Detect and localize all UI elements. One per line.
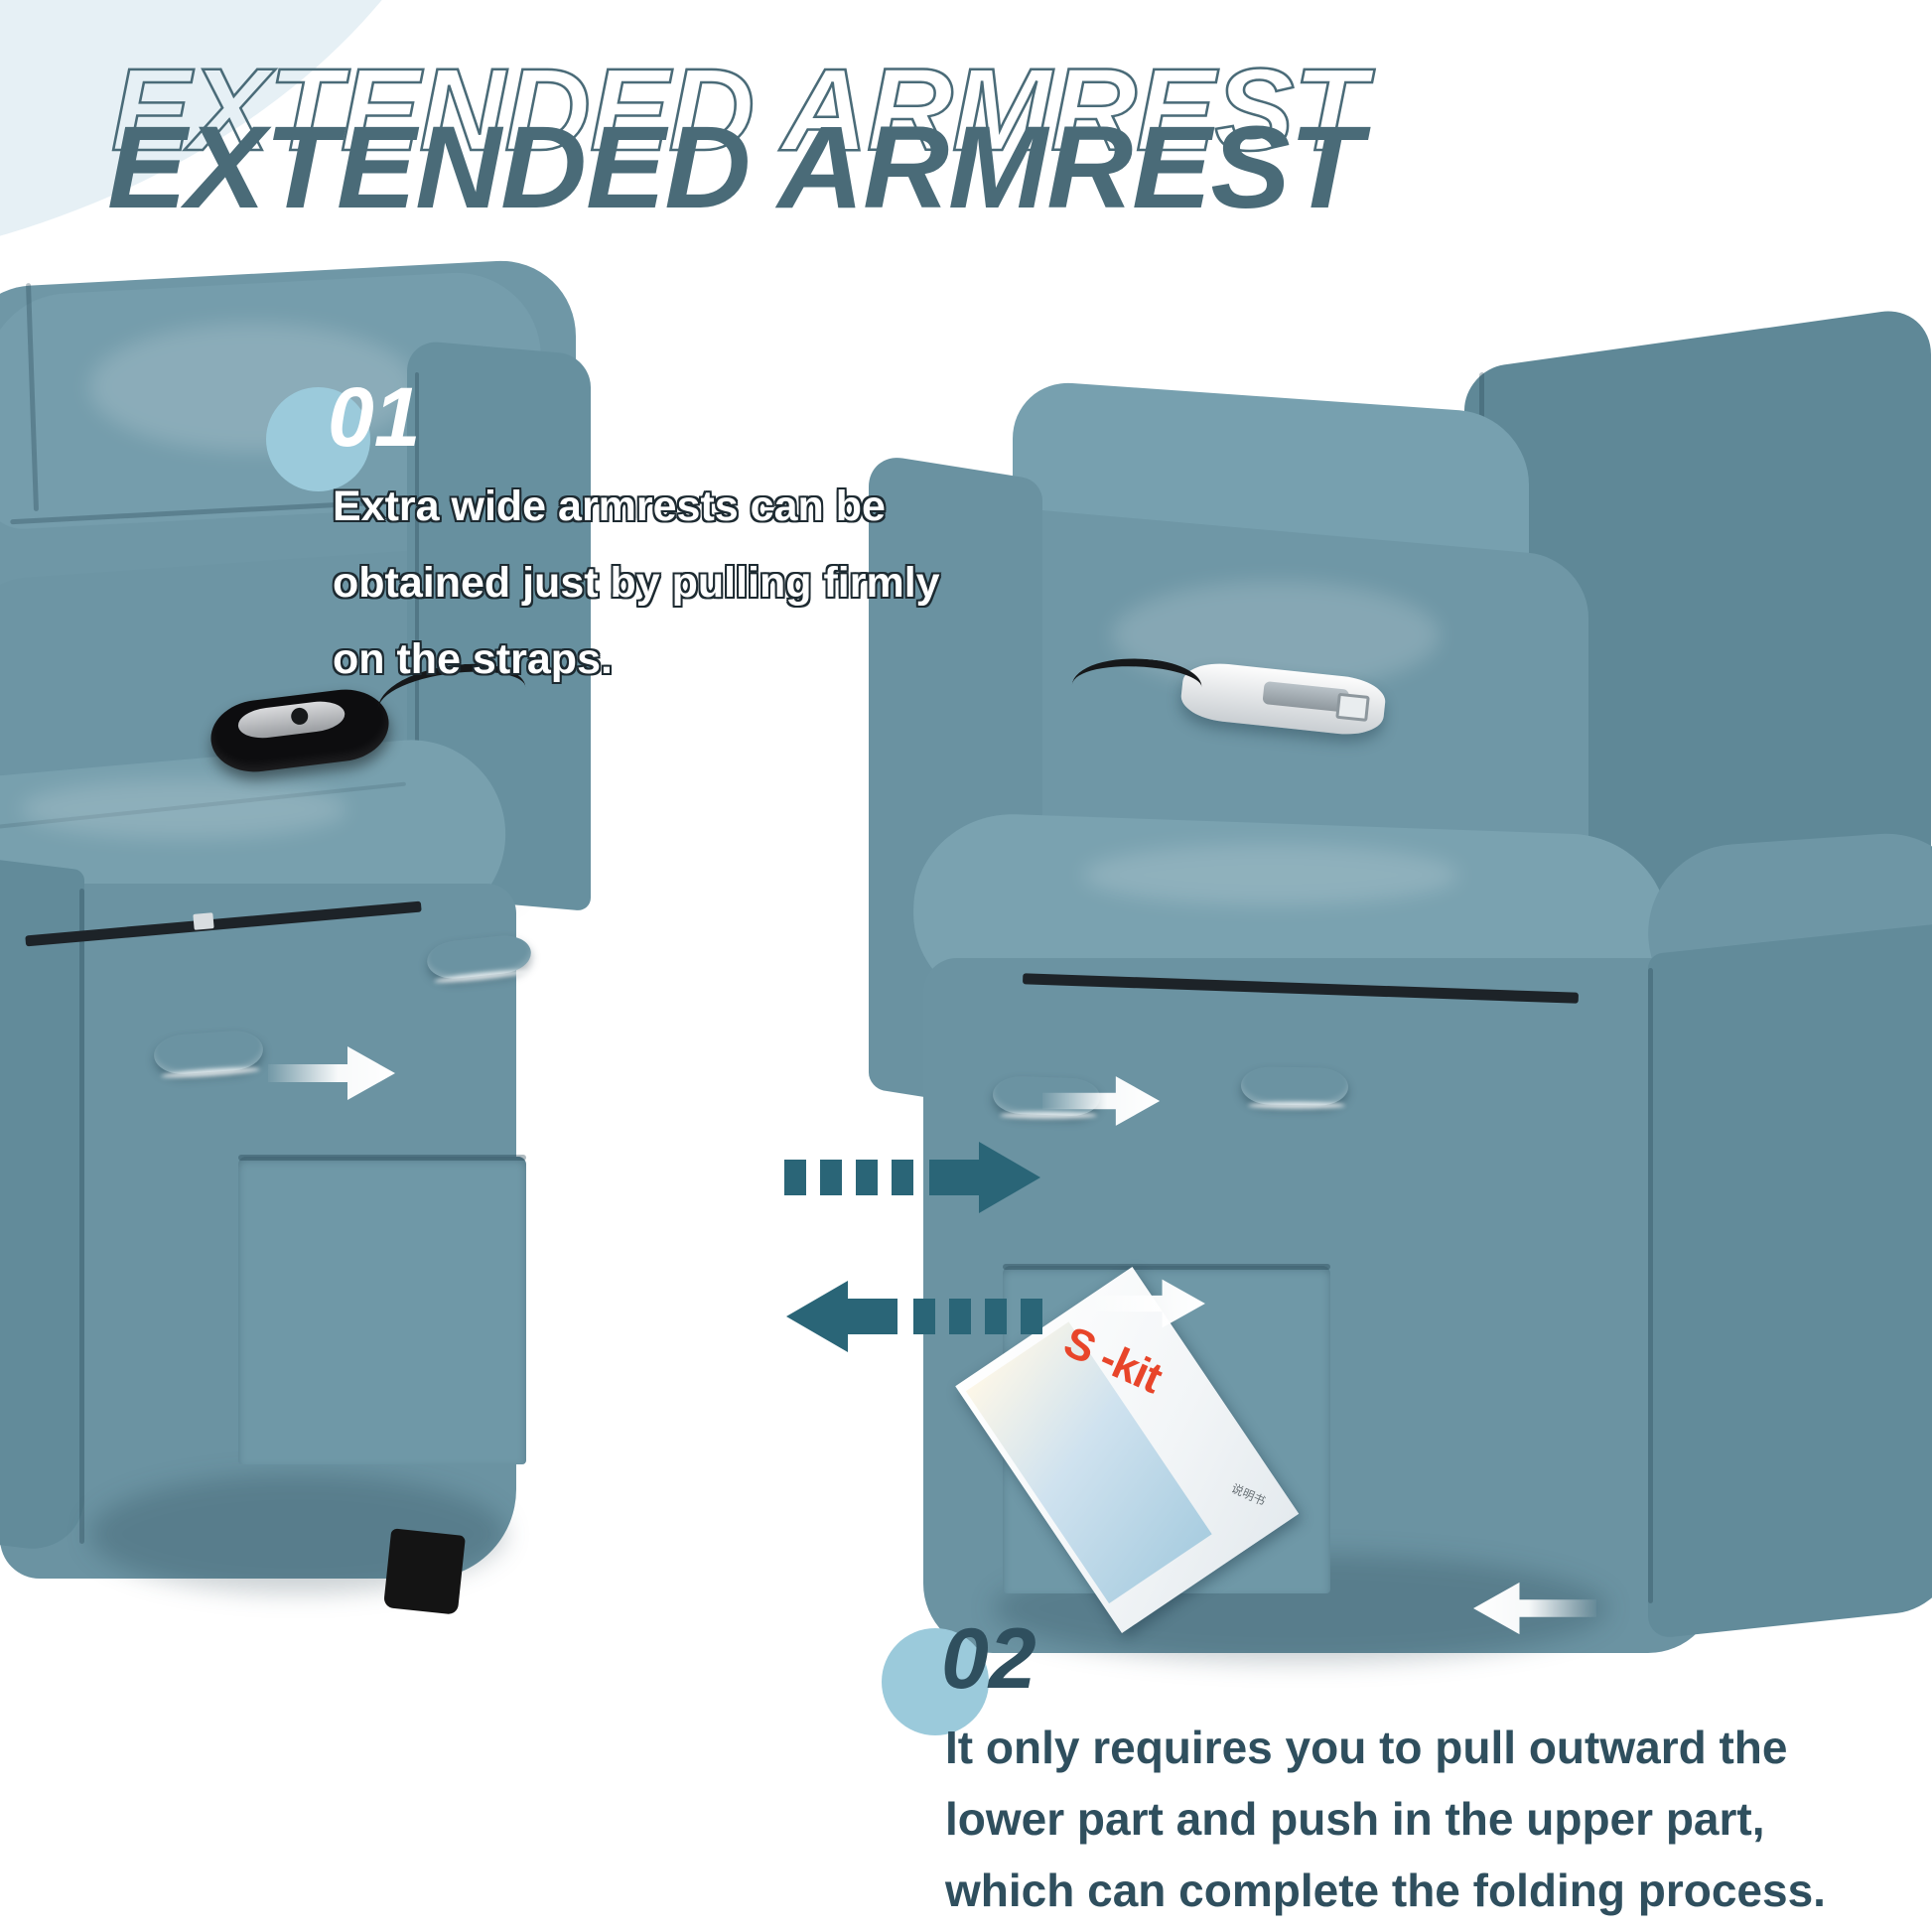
- left-chair-arrow-upper-right: [533, 938, 652, 996]
- callout-02-number: 02: [941, 1616, 1036, 1702]
- callout-02-line-3: which can complete the folding process.: [945, 1856, 1826, 1926]
- callout-02-line-1: It only requires you to pull outward the: [945, 1713, 1787, 1783]
- direction-arrow-left: [784, 1281, 1042, 1352]
- callout-01-line-1: Extra wide armrests can be: [333, 475, 886, 539]
- right-recliner-image: S -kit 说明书: [1052, 283, 1932, 1693]
- callout-01-line-3: on the straps.: [333, 627, 613, 692]
- product-feature-graphic: EXTENDED ARMREST EXTENDED ARMREST: [0, 0, 1932, 1932]
- left-chair-arrow-lower-right: [268, 1042, 397, 1104]
- direction-arrow-right: [784, 1142, 1042, 1213]
- left-chair-base-front: [0, 847, 84, 1555]
- callout-02-line-2: lower part and push in the upper part,: [945, 1784, 1765, 1855]
- callout-01-number: 01: [328, 375, 420, 459]
- right-chair-base-right: [1648, 922, 1932, 1640]
- callout-01-line-2: obtained just by pulling firmly: [333, 551, 940, 616]
- right-chair-arrow-pocket-right: [1090, 1276, 1207, 1331]
- right-chair-arrow-left-right: [1042, 1072, 1162, 1130]
- left-chair-side-pocket: [238, 1157, 526, 1464]
- right-chair-arrow-bottom-left: [1469, 1579, 1598, 1638]
- right-chair-strap-handle-right: [1241, 1066, 1349, 1106]
- page-title-solid-layer: EXTENDED ARMREST: [107, 109, 1361, 226]
- page-title: EXTENDED ARMREST EXTENDED ARMREST: [107, 52, 1398, 230]
- magazine-subtitle: 说明书: [1229, 1479, 1269, 1509]
- left-chair-foot: [383, 1528, 466, 1614]
